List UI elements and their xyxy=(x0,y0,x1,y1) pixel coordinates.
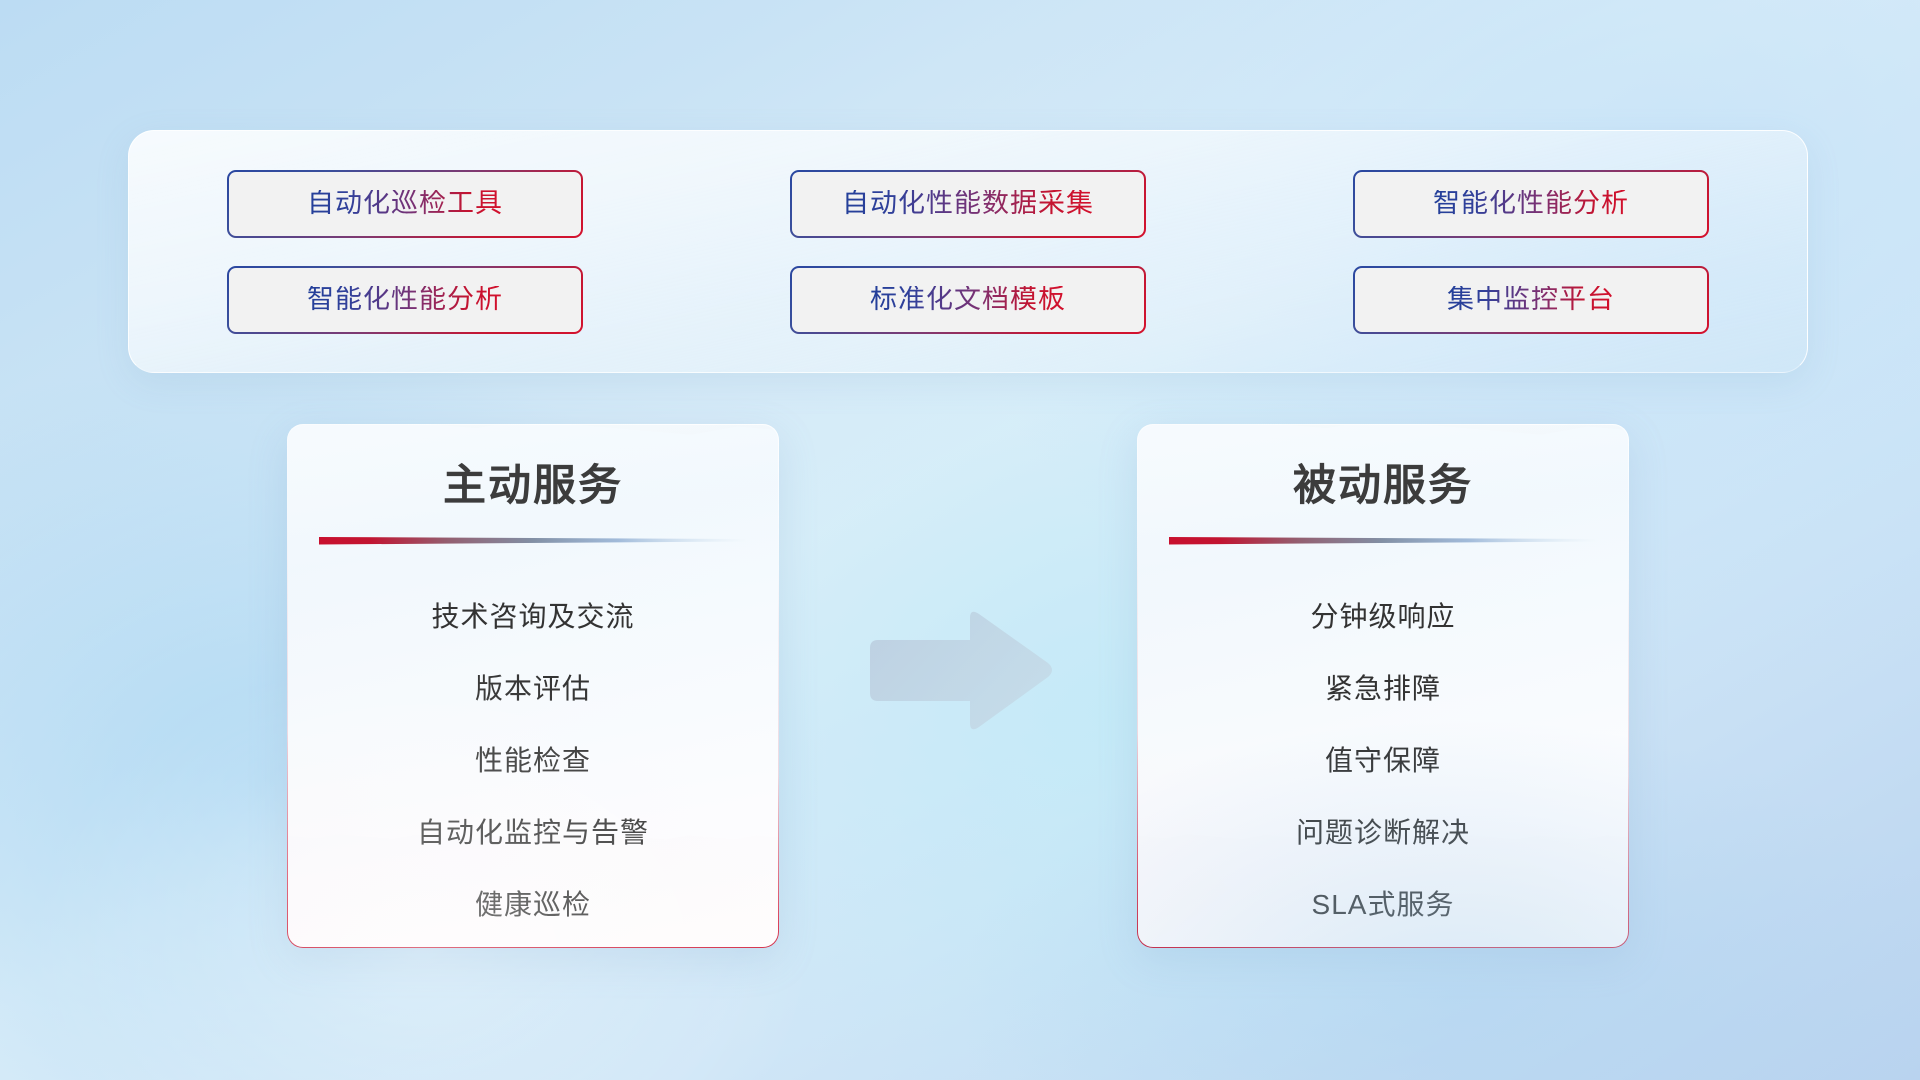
capability-pill-standardized-document-template[interactable]: 标准化文档模板 xyxy=(790,266,1146,334)
capability-pill-intelligent-performance-analysis-2[interactable]: 智能化性能分析 xyxy=(227,266,583,334)
capability-pill-label: 智能化性能分析 xyxy=(1433,190,1629,217)
capability-pill-automated-performance-data-collection[interactable]: 自动化性能数据采集 xyxy=(790,170,1146,238)
list-item: 性能检查 xyxy=(288,723,778,795)
capability-pill-automated-inspection-tool[interactable]: 自动化巡检工具 xyxy=(227,170,583,238)
capability-row-1: 自动化巡检工具 自动化性能数据采集 智能化性能分析 xyxy=(227,170,1709,238)
list-item: 问题诊断解决 xyxy=(1138,795,1628,867)
service-card-active: 主动服务 技术咨询及交流 版本评估 xyxy=(287,424,779,948)
list-item: 紧急排障 xyxy=(1138,651,1628,723)
capability-pill-label: 标准化文档模板 xyxy=(870,286,1066,313)
capability-pill-centralized-monitoring-platform[interactable]: 集中监控平台 xyxy=(1353,266,1709,334)
service-card-passive: 被动服务 分钟级响应 紧急排障 xyxy=(1137,424,1629,948)
capability-pill-label: 自动化巡检工具 xyxy=(307,190,503,217)
capability-pill-label: 智能化性能分析 xyxy=(307,286,503,313)
capability-pill-label: 集中监控平台 xyxy=(1447,286,1615,313)
service-item-list: 分钟级响应 紧急排障 值守保障 问题诊断解决 SLA式服务 xyxy=(1138,579,1628,939)
list-item: 技术咨询及交流 xyxy=(288,579,778,651)
title-gradient-rule xyxy=(319,534,747,545)
capability-pill-label: 自动化性能数据采集 xyxy=(842,190,1094,217)
capability-row-2: 智能化性能分析 标准化文档模板 集中监控平台 xyxy=(227,266,1709,334)
capability-pill-intelligent-performance-analysis[interactable]: 智能化性能分析 xyxy=(1353,170,1709,238)
list-item: 版本评估 xyxy=(288,651,778,723)
title-gradient-rule xyxy=(1169,534,1597,545)
slide-canvas: 自动化巡检工具 自动化性能数据采集 智能化性能分析 智能化性能分析 标准化文档模… xyxy=(0,0,1920,1080)
right-arrow-icon xyxy=(862,606,1057,736)
card-title: 被动服务 xyxy=(1138,463,1628,510)
list-item: 值守保障 xyxy=(1138,723,1628,795)
list-item: SLA式服务 xyxy=(1138,867,1628,939)
service-item-list: 技术咨询及交流 版本评估 性能检查 自动化监控与告警 健康巡检 xyxy=(288,579,778,939)
capability-panel: 自动化巡检工具 自动化性能数据采集 智能化性能分析 智能化性能分析 标准化文档模… xyxy=(128,130,1808,373)
list-item: 分钟级响应 xyxy=(1138,579,1628,651)
list-item: 自动化监控与告警 xyxy=(288,795,778,867)
card-title: 主动服务 xyxy=(288,463,778,510)
list-item: 健康巡检 xyxy=(288,867,778,939)
